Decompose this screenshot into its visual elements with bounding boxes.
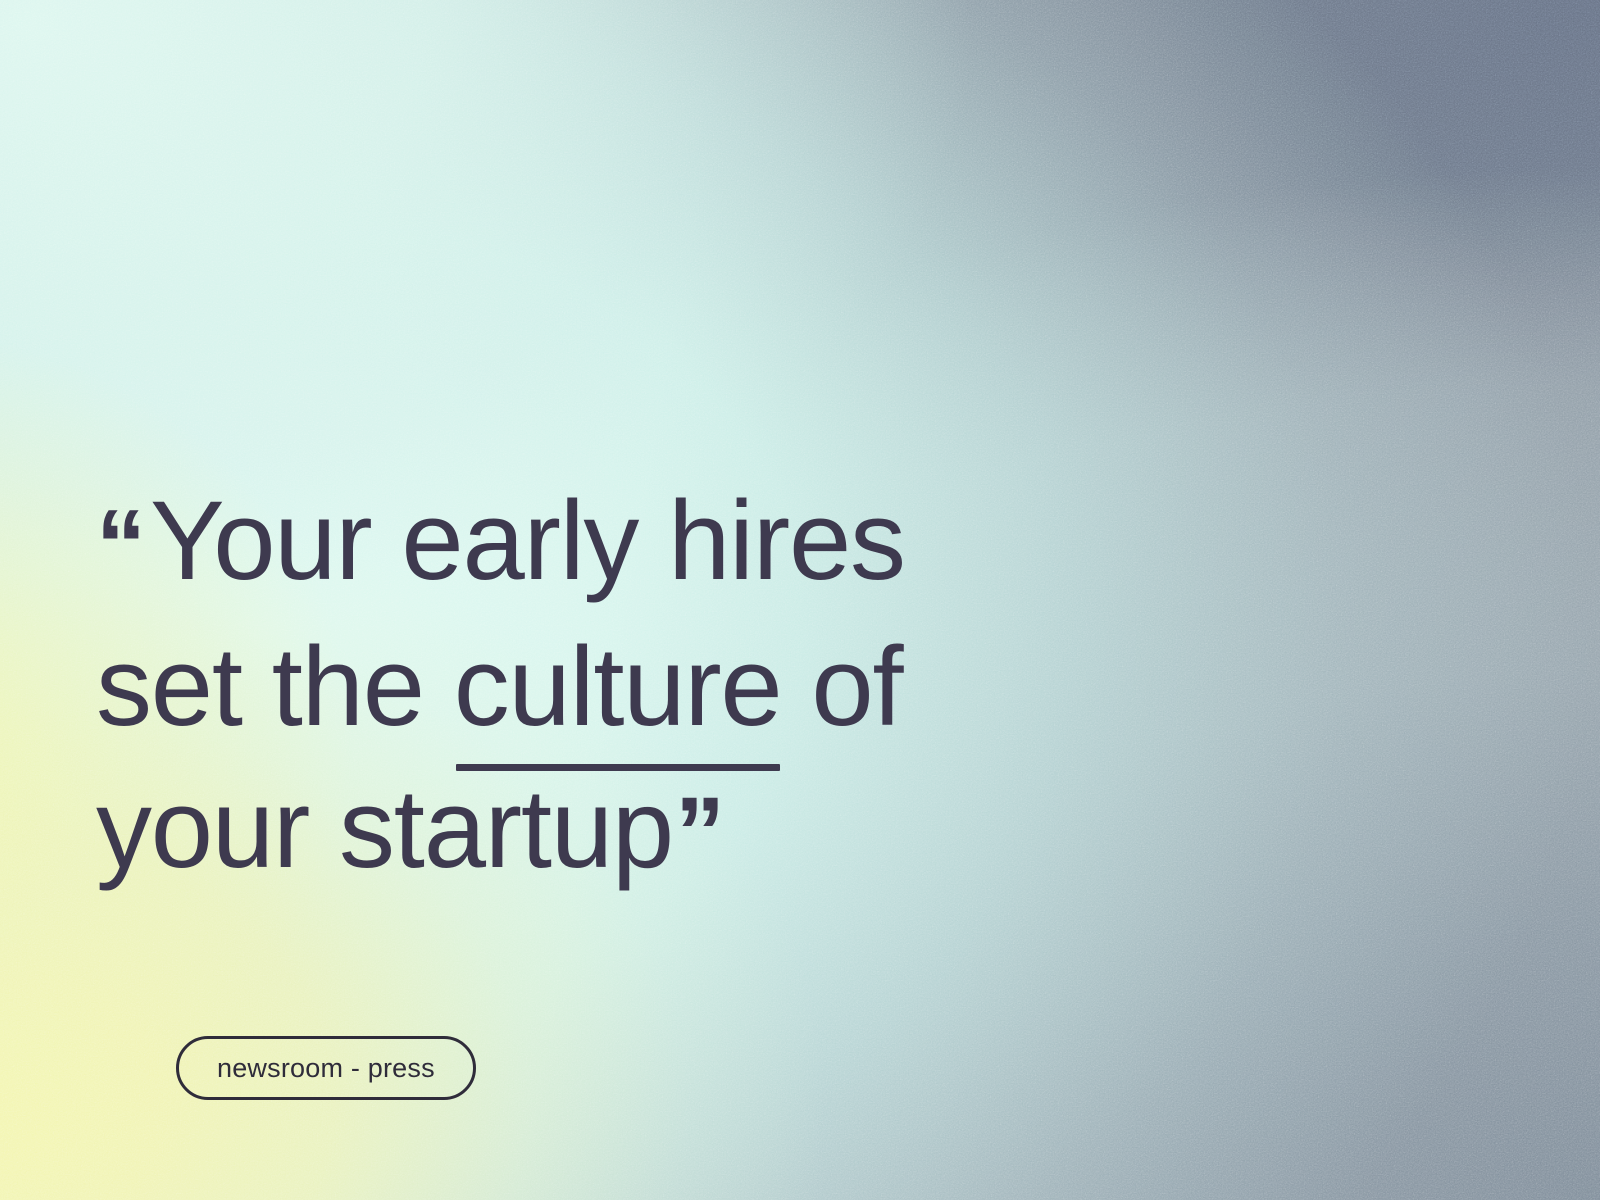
quote-text: “Your early hires set the culture of you… [96,470,1356,904]
card-content: “Your early hires set the culture of you… [0,0,1600,1200]
quote-card: “Your early hires set the culture of you… [0,0,1600,1200]
newsroom-press-badge[interactable]: newsroom - press [176,1036,476,1100]
closing-quote-mark: ” [675,777,725,889]
opening-quote-mark: “ [96,489,146,601]
badge-label: newsroom - press [217,1055,435,1082]
quote-emphasis-culture: culture [454,624,782,749]
